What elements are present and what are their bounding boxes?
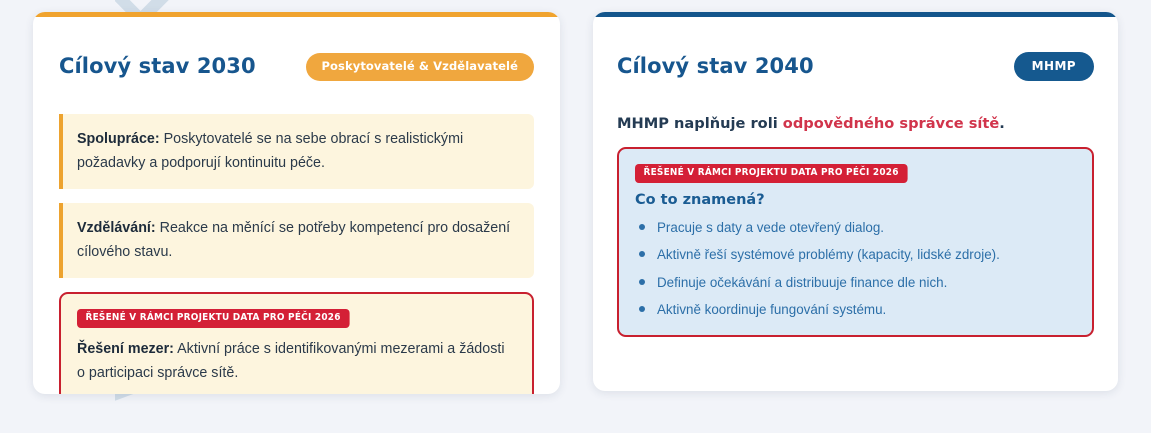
callout-co-to-znamena: Řešené v rámci projektu DATA PRO PÉČI 20… bbox=[617, 147, 1094, 337]
list-item: Aktivně řeší systémové problémy (kapacit… bbox=[635, 246, 1076, 263]
page-title-2030: Cílový stav 2030 bbox=[59, 55, 256, 78]
card-cilovy-stav-2040: Cílový stav 2040 MHMP MHMP naplňuje roli… bbox=[593, 12, 1118, 391]
info-block-vzdelavani: Vzdělávání: Reakce na měnící se potřeby … bbox=[59, 203, 534, 278]
status-badge-poskytovatele-vzdelavatele[interactable]: Poskytovatelé & Vzdělavatelé bbox=[306, 53, 534, 82]
info-block-spoluprace: Spolupráce: Poskytovatelé se na sebe obr… bbox=[59, 114, 534, 189]
callout-reseni-mezer-label: Řešení mezer: bbox=[77, 341, 174, 357]
list-item: Definuje očekávání a distribuuje finance… bbox=[635, 274, 1076, 291]
card-header-2040: Cílový stav 2040 MHMP bbox=[617, 38, 1094, 96]
info-block-spoluprace-label: Spolupráce: bbox=[77, 131, 160, 147]
card-header-2030: Cílový stav 2030 Poskytovatelé & Vzdělav… bbox=[59, 38, 534, 96]
status-badge-projekt-tag-2040: Řešené v rámci projektu DATA PRO PÉČI 20… bbox=[635, 164, 907, 183]
list-item: Aktivně koordinuje fungování systému. bbox=[635, 301, 1076, 318]
info-block-vzdelavani-label: Vzdělávání: bbox=[77, 220, 156, 236]
status-badge-mhmp[interactable]: MHMP bbox=[1014, 52, 1094, 81]
lead-prefix: MHMP naplňuje roli bbox=[617, 115, 783, 132]
page-title-2040: Cílový stav 2040 bbox=[617, 55, 814, 78]
status-badge-projekt-tag-2030: Řešené v rámci projektu DATA PRO PÉČI 20… bbox=[77, 309, 349, 328]
lead-statement-mhmp: MHMP naplňuje roli odpovědného správce s… bbox=[617, 114, 1094, 134]
lead-suffix: . bbox=[999, 115, 1005, 132]
lead-accent: odpovědného správce sítě bbox=[783, 115, 999, 132]
callout-reseni-mezer-text: Řešení mezer: Aktivní práce s identifiko… bbox=[77, 337, 516, 385]
callout-heading-co-to-znamena: Co to znamená? bbox=[635, 192, 1076, 209]
cards-board: Cílový stav 2030 Poskytovatelé & Vzdělav… bbox=[0, 0, 1151, 433]
callout-bullet-list: Pracuje s daty a vede otevřený dialog. A… bbox=[635, 219, 1076, 319]
list-item: Pracuje s daty a vede otevřený dialog. bbox=[635, 219, 1076, 236]
callout-reseni-mezer: Řešené v rámci projektu DATA PRO PÉČI 20… bbox=[59, 292, 534, 394]
card-cilovy-stav-2030: Cílový stav 2030 Poskytovatelé & Vzdělav… bbox=[33, 12, 560, 394]
